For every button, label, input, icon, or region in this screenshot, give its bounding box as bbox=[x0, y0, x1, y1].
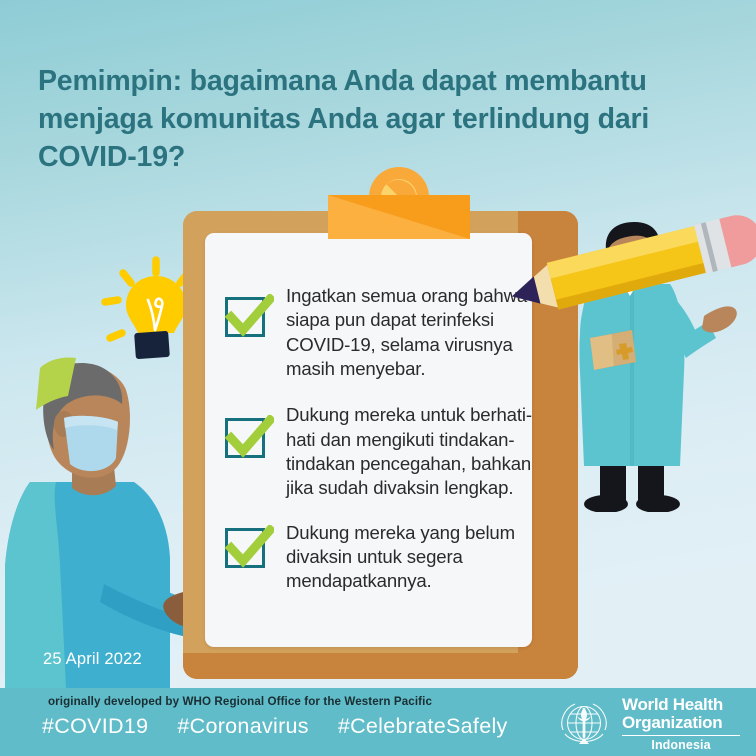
checkbox-1[interactable] bbox=[222, 294, 268, 340]
checkbox-2[interactable] bbox=[222, 415, 268, 461]
checklist: Ingatkan semua orang bahwa siapa pun dap… bbox=[222, 278, 552, 610]
who-line-1: World Health bbox=[622, 696, 740, 714]
checkmark-icon bbox=[222, 415, 274, 461]
footer-bar: originally developed by WHO Regional Off… bbox=[0, 688, 756, 756]
date-label: 25 April 2022 bbox=[43, 650, 142, 669]
hashtag-coronavirus[interactable]: #Coronavirus bbox=[177, 714, 308, 739]
pencil-icon bbox=[505, 215, 756, 325]
hashtag-list: #COVID19 #Coronavirus #CelebrateSafely bbox=[42, 714, 508, 739]
who-country-label: Indonesia bbox=[622, 739, 740, 752]
checkmark-icon bbox=[222, 525, 274, 571]
hashtag-celebratesafely[interactable]: #CelebrateSafely bbox=[338, 714, 508, 739]
who-emblem-icon bbox=[555, 698, 613, 750]
who-line-2: Organization bbox=[622, 714, 740, 732]
checkbox-3[interactable] bbox=[222, 525, 268, 571]
list-item[interactable]: Ingatkan semua orang bahwa siapa pun dap… bbox=[222, 278, 552, 381]
list-item-label: Dukung mereka yang belum divaksin untuk … bbox=[286, 515, 552, 594]
credit-text: originally developed by WHO Regional Off… bbox=[48, 695, 432, 708]
list-item[interactable]: Dukung mereka untuk berhati-hati dan men… bbox=[222, 397, 552, 500]
list-item-label: Dukung mereka untuk berhati-hati dan men… bbox=[286, 397, 552, 500]
infographic-poster: Pemimpin: bagaimana Anda dapat membantu … bbox=[0, 0, 756, 756]
list-item[interactable]: Dukung mereka yang belum divaksin untuk … bbox=[222, 515, 552, 594]
who-divider bbox=[622, 735, 740, 736]
clipboard-board-bottom bbox=[183, 653, 578, 679]
page-title: Pemimpin: bagaimana Anda dapat membantu … bbox=[38, 63, 728, 177]
clipboard-clip-icon bbox=[328, 167, 470, 239]
who-logo: World Health Organization Indonesia bbox=[555, 696, 740, 753]
checkmark-icon bbox=[222, 294, 274, 340]
who-wordmark: World Health Organization Indonesia bbox=[622, 696, 740, 753]
hashtag-covid19[interactable]: #COVID19 bbox=[42, 714, 148, 739]
